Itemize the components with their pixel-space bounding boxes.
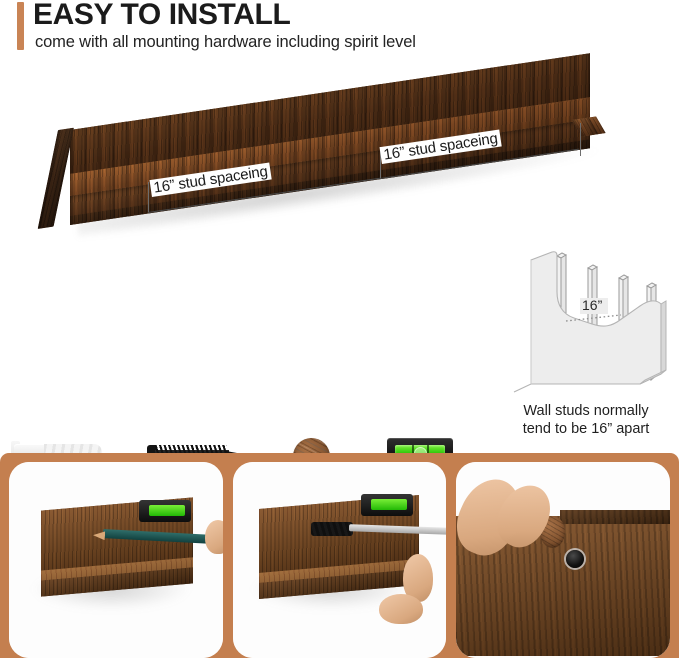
illustration-area: 16” stud spaceing 16” stud spaceing [0, 62, 679, 453]
wall-stud-diagram: 16” [500, 242, 672, 422]
installation-step-photo-1[interactable] [9, 462, 223, 658]
dimension-tick-left [148, 182, 149, 212]
installation-steps-gallery [0, 453, 679, 658]
page-title: EASY TO INSTALL [33, 0, 290, 32]
installation-step-photo-3[interactable] [456, 462, 670, 658]
dimension-tick-right [580, 123, 581, 156]
stud-caption-line-1: Wall studs normally [497, 402, 675, 420]
header: EASY TO INSTALL come with all mounting h… [0, 0, 679, 62]
level-vial [371, 499, 407, 510]
thumb [379, 594, 423, 624]
hand [205, 520, 223, 554]
installation-step-photo-2[interactable] [233, 462, 447, 658]
shelf-left-end-cap [38, 128, 74, 229]
stud-caption-line-2: tend to be 16” apart [497, 420, 675, 438]
product-infographic: EASY TO INSTALL come with all mounting h… [0, 0, 679, 658]
wall-stud-svg [500, 242, 672, 422]
stud-diagram-caption: Wall studs normally tend to be 16” apart [497, 402, 675, 438]
page-subtitle: come with all mounting hardware includin… [35, 33, 416, 52]
accent-bar [17, 2, 24, 50]
shelf-top-edge [560, 510, 670, 524]
screw [311, 522, 353, 536]
stud-measurement-label: 16” [582, 297, 602, 313]
level-vial [149, 505, 185, 516]
